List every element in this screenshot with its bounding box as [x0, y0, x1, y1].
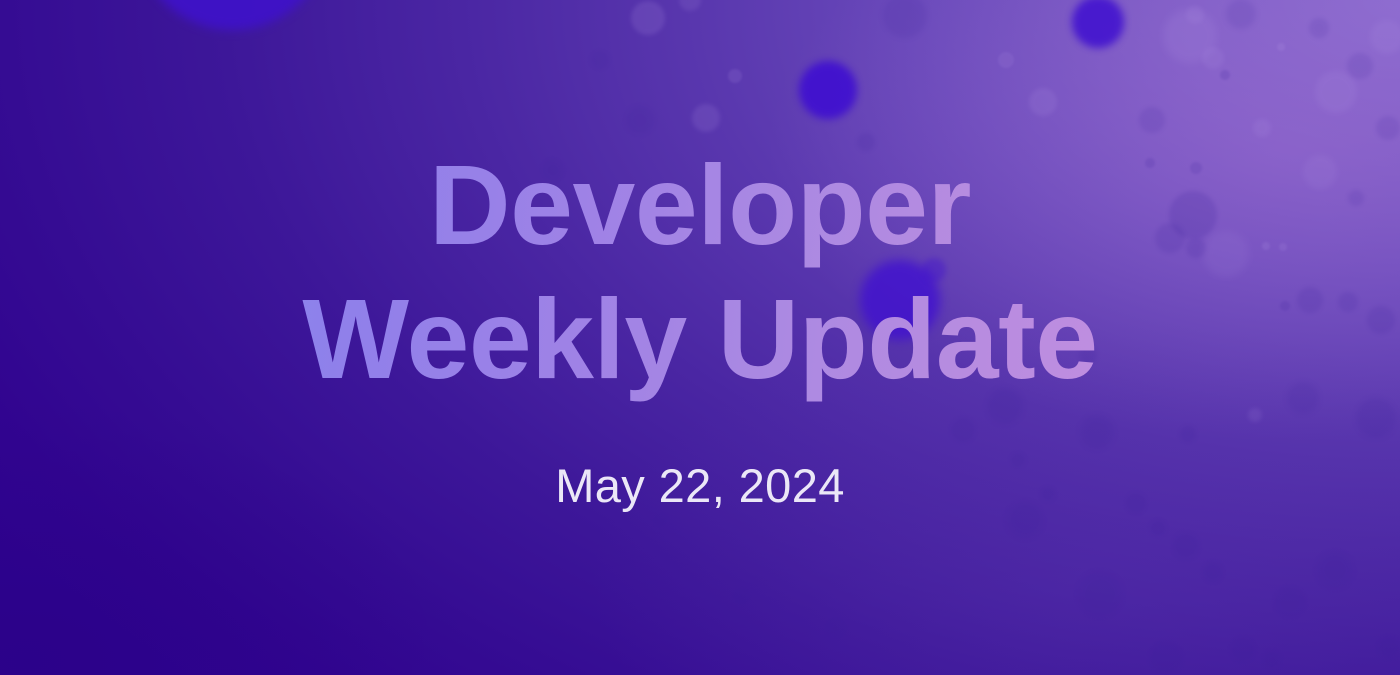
decorative-dot — [1029, 88, 1057, 116]
decorative-dot — [1378, 637, 1400, 659]
decorative-dot — [1173, 533, 1199, 559]
decorative-dot — [1347, 53, 1373, 79]
decorative-dot — [1078, 572, 1122, 616]
decorative-dot — [1315, 71, 1357, 113]
decorative-dot — [951, 418, 975, 442]
decorative-dot — [1275, 587, 1305, 617]
decorative-dot — [692, 104, 720, 132]
decorative-dot — [1277, 43, 1285, 51]
decorative-dot — [827, 619, 845, 637]
slide-date: May 22, 2024 — [0, 458, 1400, 513]
decorative-dot — [799, 61, 857, 119]
decorative-dot — [1072, 0, 1124, 48]
decorative-dot — [1263, 651, 1281, 669]
decorative-dot — [654, 514, 666, 526]
decorative-dot — [591, 51, 609, 69]
decorative-dot — [1220, 70, 1230, 80]
decorative-dot — [1253, 119, 1271, 137]
decorative-dot — [1376, 116, 1400, 140]
decorative-dot — [1180, 426, 1196, 442]
decorative-dot — [1248, 408, 1262, 422]
decorative-dot — [631, 1, 665, 35]
decorative-dot — [1080, 415, 1114, 449]
decorative-dot — [1317, 552, 1353, 588]
decorative-dot — [1231, 638, 1255, 662]
decorative-dot — [1309, 18, 1329, 38]
decorative-dot — [1226, 0, 1256, 29]
decorative-dot — [1370, 20, 1400, 54]
decorative-dot — [735, 589, 749, 603]
page-title: Developer Weekly Update — [0, 138, 1400, 406]
decorative-dot — [679, 0, 701, 11]
decorative-dot — [728, 69, 742, 83]
decorative-dot — [1203, 562, 1223, 582]
page-title-line-2: Weekly Update — [0, 272, 1400, 406]
decorative-dot — [883, 0, 927, 38]
decorative-dot — [1150, 642, 1182, 674]
decorative-dot — [1202, 47, 1224, 69]
decorative-dot — [998, 52, 1014, 68]
decorative-dot — [1139, 107, 1165, 133]
page-title-line-1: Developer — [0, 138, 1400, 272]
decorative-dot — [626, 106, 654, 134]
weekly-update-slide: Developer Weekly Update May 22, 2024 — [0, 0, 1400, 675]
decorative-dot — [1186, 6, 1204, 24]
decorative-dot — [1150, 520, 1166, 536]
